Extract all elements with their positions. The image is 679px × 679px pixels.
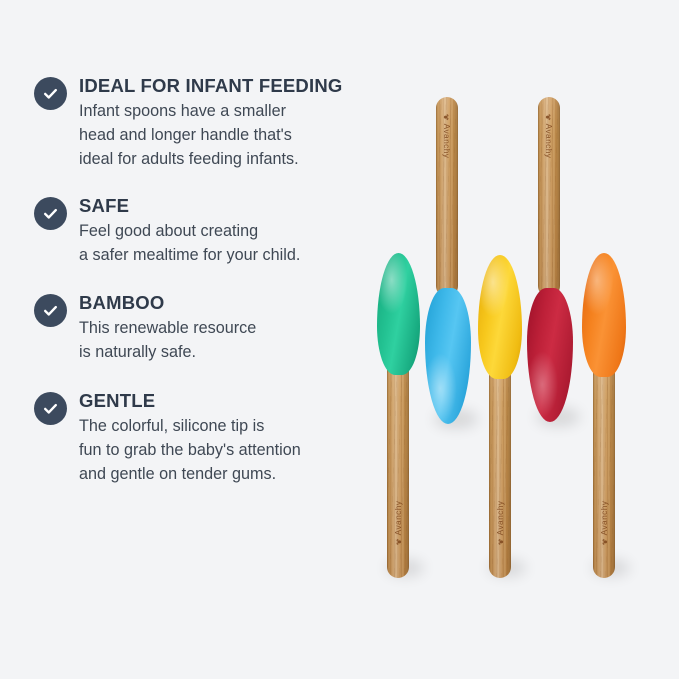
check-circle-icon [34, 77, 67, 110]
feature-description: The colorful, silicone tip is fun to gra… [79, 415, 366, 486]
feature-description: This renewable resource is naturally saf… [79, 317, 366, 365]
bee-logo-icon [444, 114, 451, 121]
brand-name: Avanchy [544, 124, 554, 159]
orange-spoon-tip [582, 253, 626, 377]
brand-mark: Avanchy [495, 501, 505, 546]
feature-description-line: Infant spoons have a smaller [79, 100, 366, 124]
feature-item-safe: SAFE Feel good about creating a safer me… [34, 194, 366, 268]
brand-name: Avanchy [393, 501, 403, 536]
green-spoon-tip [377, 253, 420, 375]
brand-mark: Avanchy [599, 501, 609, 546]
check-circle-icon [34, 392, 67, 425]
brand-name: Avanchy [495, 501, 505, 536]
feature-title: SAFE [79, 194, 366, 217]
feature-title: GENTLE [79, 389, 366, 412]
check-circle-icon [34, 294, 67, 327]
feature-item-bamboo: BAMBOO This renewable resource is natura… [34, 291, 366, 365]
yellow-spoon-handle: Avanchy [489, 365, 511, 578]
bee-logo-icon [497, 538, 504, 545]
bee-logo-icon [395, 538, 402, 545]
brand-mark: Avanchy [442, 114, 452, 159]
brand-mark: Avanchy [544, 114, 554, 159]
feature-list: IDEAL FOR INFANT FEEDING Infant spoons h… [34, 74, 366, 487]
red-spoon-tip [527, 288, 573, 422]
red-spoon-handle: Avanchy [538, 97, 560, 297]
feature-item-ideal-for-infant-feeding: IDEAL FOR INFANT FEEDING Infant spoons h… [34, 74, 366, 172]
orange-spoon-handle: Avanchy [593, 363, 615, 578]
feature-description: Feel good about creating a safer mealtim… [79, 220, 366, 268]
feature-description-line: This renewable resource [79, 317, 366, 341]
feature-description-line: fun to grab the baby's attention [79, 439, 366, 463]
feature-description-line: head and longer handle that's [79, 124, 366, 148]
feature-item-gentle: GENTLE The colorful, silicone tip is fun… [34, 389, 366, 487]
product-image: Avanchy Avanchy [374, 0, 679, 679]
bee-logo-icon [546, 114, 553, 121]
brand-mark: Avanchy [393, 501, 403, 546]
blue-spoon-handle: Avanchy [436, 97, 458, 297]
feature-title: IDEAL FOR INFANT FEEDING [79, 74, 366, 97]
green-spoon-handle: Avanchy [387, 360, 409, 578]
feature-title: BAMBOO [79, 291, 366, 314]
check-circle-icon [34, 197, 67, 230]
feature-description: Infant spoons have a smaller head and lo… [79, 100, 366, 171]
feature-description-line: The colorful, silicone tip is [79, 415, 366, 439]
blue-spoon-tip [425, 288, 471, 424]
feature-description-line: Feel good about creating [79, 220, 366, 244]
brand-name: Avanchy [442, 124, 452, 159]
brand-name: Avanchy [599, 501, 609, 536]
yellow-spoon-tip [478, 255, 522, 379]
feature-description-line: a safer mealtime for your child. [79, 244, 366, 268]
feature-description-line: ideal for adults feeding infants. [79, 148, 366, 172]
bee-logo-icon [601, 538, 608, 545]
feature-description-line: and gentle on tender gums. [79, 463, 366, 487]
feature-description-line: is naturally safe. [79, 341, 366, 365]
product-feature-panel: IDEAL FOR INFANT FEEDING Infant spoons h… [0, 0, 679, 679]
